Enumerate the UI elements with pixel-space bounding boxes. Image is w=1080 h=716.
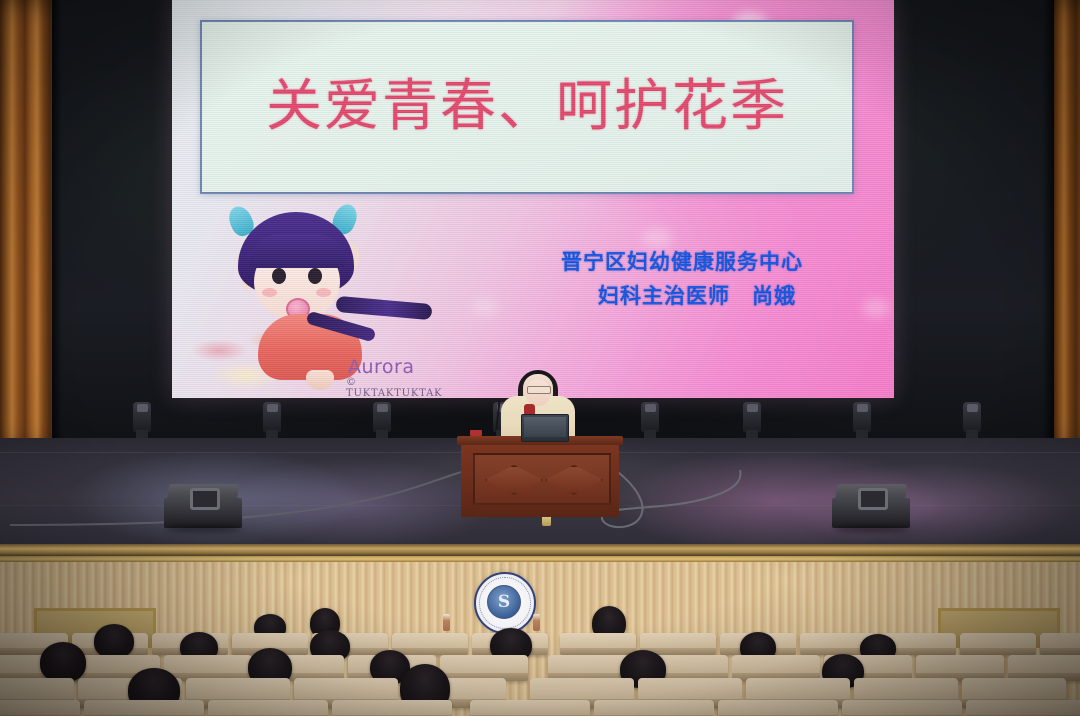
seat [594,700,714,716]
illustration-cheek-right [316,288,331,297]
monitor-handle [190,488,220,510]
stage-monitor-left [164,484,242,530]
seat [84,700,204,716]
emblem-center: S [487,585,521,619]
podium-inset-panel [473,453,611,505]
monitor-handle [858,488,888,510]
curtain-shadow-left [52,0,62,450]
illustration-brand-name: Aurora [348,356,415,378]
light-head [853,402,871,432]
cable-right [602,470,741,527]
slide-presenter-block: 晋宁区妇幼健康服务中心 妇科主治医师 尚娥 [502,246,862,310]
audience-head [94,624,134,658]
bokeh-dot [862,298,890,318]
wall-top-trim [0,556,1080,562]
light-lens [137,404,148,412]
seat [560,633,636,655]
stage-curtain-left [0,0,52,450]
seat [470,700,590,716]
monitor-shadow [166,526,242,532]
illustration-eye-right [308,268,322,284]
seat [960,633,1036,655]
podium [461,436,619,520]
slide-title-panel: 关爱青春、呵护花季 [200,20,854,194]
light-head [963,402,981,432]
bokeh-dot [472,298,498,316]
seat [208,700,328,716]
audience-head [40,642,86,682]
podium-diamond-left [485,465,543,495]
light-head [263,402,281,432]
seat [842,700,962,716]
led-presentation-screen: 关爱青春、呵护花季 晋宁区妇幼健康服务中心 妇科主治医师 尚娥 [172,0,894,398]
monitor-shadow [834,526,910,532]
light-lens [377,404,388,412]
curtain-shadow-right [1042,0,1054,450]
podium-diamond-right [545,465,603,495]
light-lens [267,404,278,412]
slide-presenter-name: 妇科主治医师 尚娥 [502,280,862,310]
emblem-letter: S [498,592,510,612]
presenter-laptop [521,414,569,442]
seat [718,700,838,716]
illustration-braid-long [335,296,432,320]
bokeh-dot [642,228,672,248]
water-bottle [533,614,540,631]
stage-curtain-right [1054,0,1080,450]
water-bottle [443,614,450,631]
stage-front-edge [0,544,1080,556]
podium-front-panel [461,445,619,517]
slide-organization: 晋宁区妇幼健康服务中心 [502,246,862,276]
seat [0,700,80,716]
illustration-eye-left [272,268,286,284]
laptop-screen [524,417,566,437]
stage-monitor-right [832,484,910,530]
light-head [133,402,151,432]
illustration-copyright: © TUKTAKTUKTAK [346,377,442,398]
school-emblem: S [474,572,536,634]
illustration-cheek-left [262,288,277,297]
auditorium-photo: 关爱青春、呵护花季 晋宁区妇幼健康服务中心 妇科主治医师 尚娥 [0,0,1080,716]
light-lens [857,404,868,412]
seat [966,700,1080,716]
seat [1040,633,1080,655]
light-lens [645,404,656,412]
seat [392,633,468,655]
illustration-bangs [250,234,346,268]
light-head [373,402,391,432]
light-head [743,402,761,432]
light-head [641,402,659,432]
slide-illustration: Aurora © TUKTAKTUKTAK [186,194,436,394]
podium-nameplate [470,430,482,436]
seat [332,700,452,716]
slide-title: 关爱青春、呵护花季 [266,79,788,135]
glasses-icon [527,386,551,394]
light-lens [747,404,758,412]
light-lens [967,404,978,412]
